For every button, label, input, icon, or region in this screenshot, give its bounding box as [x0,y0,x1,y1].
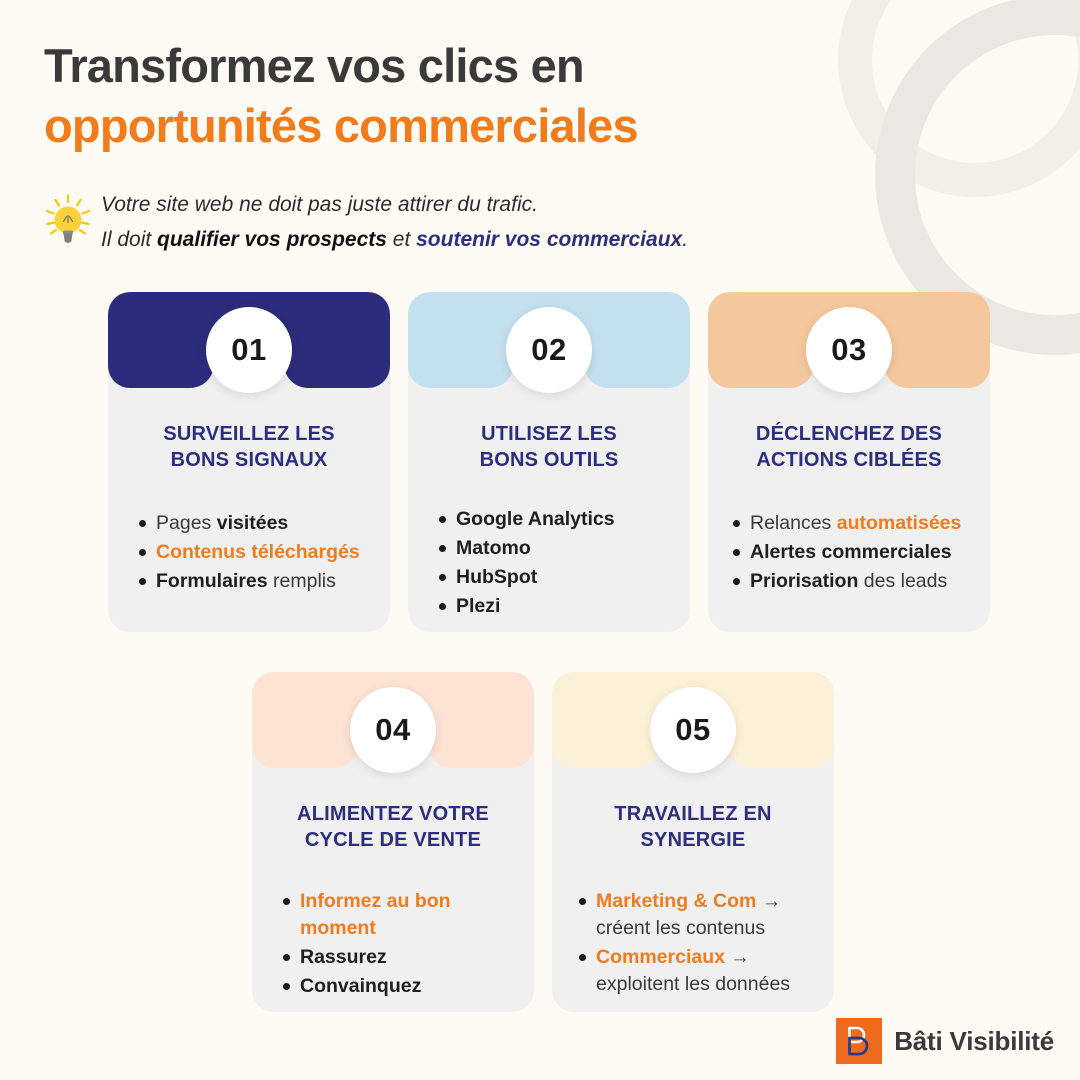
card-list-01: Pages visitées Contenus téléchargés Form… [134,510,376,597]
subtitle-l2-end: . [682,228,688,251]
list-item: Matomo [456,535,676,562]
list-item: Convainquez [300,973,520,1000]
subtitle-line-2: Il doit qualifier vos prospects et soute… [101,227,688,253]
subtitle-l2-bold2: soutenir vos commerciaux [416,228,682,251]
item-post: créent les contenus [596,917,765,939]
list-item: Relances automatisées [750,510,976,537]
arrow-right-icon: → [725,946,750,968]
card-title-line2-02: BONS OUTILS [480,449,619,471]
item-orange: Commerciaux [596,946,725,968]
brand-name: Bâti Visibilité [894,1026,1054,1057]
item-post: des leads [858,570,947,592]
headline-line-2: opportunités commerciales [44,96,864,156]
bati-b-logo-icon [836,1018,882,1064]
card-list-04: Informez au bon moment Rassurez Convainq… [278,888,520,1002]
item-bold: Convainquez [300,975,421,997]
card-title-line2-03: ACTIONS CIBLÉES [756,449,941,471]
list-item: Commerciaux → exploitent les données [596,944,820,998]
card-title-line2-01: BONS SIGNAUX [171,449,328,471]
step-card-02[interactable]: 02 UTILISEZ LES BONS OUTILS Google Analy… [408,292,690,632]
item-pre: Relances [750,512,837,534]
step-number-badge-05: 05 [650,687,736,773]
subtitle-l2-mid: et [387,228,416,251]
item-post: remplis [268,570,336,592]
step-number-badge-04: 04 [350,687,436,773]
step-number-badge-03: 03 [806,307,892,393]
item-post: exploitent les données [596,973,790,995]
list-item: Plezi [456,593,676,620]
step-card-01[interactable]: 01 SURVEILLEZ LES BONS SIGNAUX Pages vis… [108,292,390,632]
card-list-03: Relances automatisées Alertes commercial… [728,510,976,597]
item-bold: Google Analytics [456,508,615,530]
item-bold: HubSpot [456,566,537,588]
card-title-line1-01: SURVEILLEZ LES [163,423,334,445]
list-item: Google Analytics [456,506,676,533]
list-item: Priorisation des leads [750,568,976,595]
item-bold: Priorisation [750,570,858,592]
item-orange: automatisées [837,512,962,534]
item-bold: Alertes commerciales [750,541,952,563]
list-item: HubSpot [456,564,676,591]
item-bold: Plezi [456,595,500,617]
footer-logo[interactable]: Bâti Visibilité [836,1018,1054,1064]
card-title-03: DÉCLENCHEZ DES ACTIONS CIBLÉES [722,422,976,473]
item-bold: Matomo [456,537,531,559]
card-title-line1-02: UTILISEZ LES [481,423,617,445]
card-title-04: ALIMENTEZ VOTRE CYCLE DE VENTE [266,802,520,853]
list-item: Pages visitées [156,510,376,537]
item-orange: Informez au bon moment [300,890,451,939]
step-card-05[interactable]: 05 TRAVAILLEZ EN SYNERGIE Marketing & Co… [552,672,834,1012]
list-item: Formulaires remplis [156,568,376,595]
item-bold: Formulaires [156,570,268,592]
step-number-badge-02: 02 [506,307,592,393]
subtitle-l2-bold1: qualifier vos prospects [157,228,387,251]
item-bold: Rassurez [300,946,387,968]
card-list-05: Marketing & Com → créent les contenus Co… [574,888,820,1000]
list-item: Informez au bon moment [300,888,520,942]
headline-line-1: Transformez vos clics en [44,36,864,96]
step-card-03[interactable]: 03 DÉCLENCHEZ DES ACTIONS CIBLÉES Relanc… [708,292,990,632]
list-item: Alertes commerciales [750,539,976,566]
list-item: Contenus téléchargés [156,539,376,566]
card-title-line1-04: ALIMENTEZ VOTRE [297,803,489,825]
step-card-04[interactable]: 04 ALIMENTEZ VOTRE CYCLE DE VENTE Inform… [252,672,534,1012]
step-number-badge-01: 01 [206,307,292,393]
subtitle-line-1: Votre site web ne doit pas juste attirer… [101,192,688,218]
arrow-right-icon: → [756,890,781,912]
card-title-line2-05: SYNERGIE [641,829,746,851]
page-title: Transformez vos clics en opportunités co… [44,36,864,156]
card-title-line2-04: CYCLE DE VENTE [305,829,481,851]
item-bold: visitées [217,512,289,534]
card-title-line1-03: DÉCLENCHEZ DES [756,423,942,445]
subtitle-block: Votre site web ne doit pas juste attirer… [45,190,945,254]
list-item: Marketing & Com → créent les contenus [596,888,820,942]
card-list-02: Google Analytics Matomo HubSpot Plezi [434,506,676,622]
card-title-01: SURVEILLEZ LES BONS SIGNAUX [122,422,376,473]
lightbulb-icon [45,194,91,253]
card-title-05: TRAVAILLEZ EN SYNERGIE [566,802,820,853]
subtitle-l2-pre: Il doit [101,228,157,251]
item-orange: Marketing & Com [596,890,756,912]
list-item: Rassurez [300,944,520,971]
item-pre: Pages [156,512,217,534]
card-title-02: UTILISEZ LES BONS OUTILS [422,422,676,473]
card-title-line1-05: TRAVAILLEZ EN [614,803,771,825]
item-orange: Contenus téléchargés [156,541,360,563]
